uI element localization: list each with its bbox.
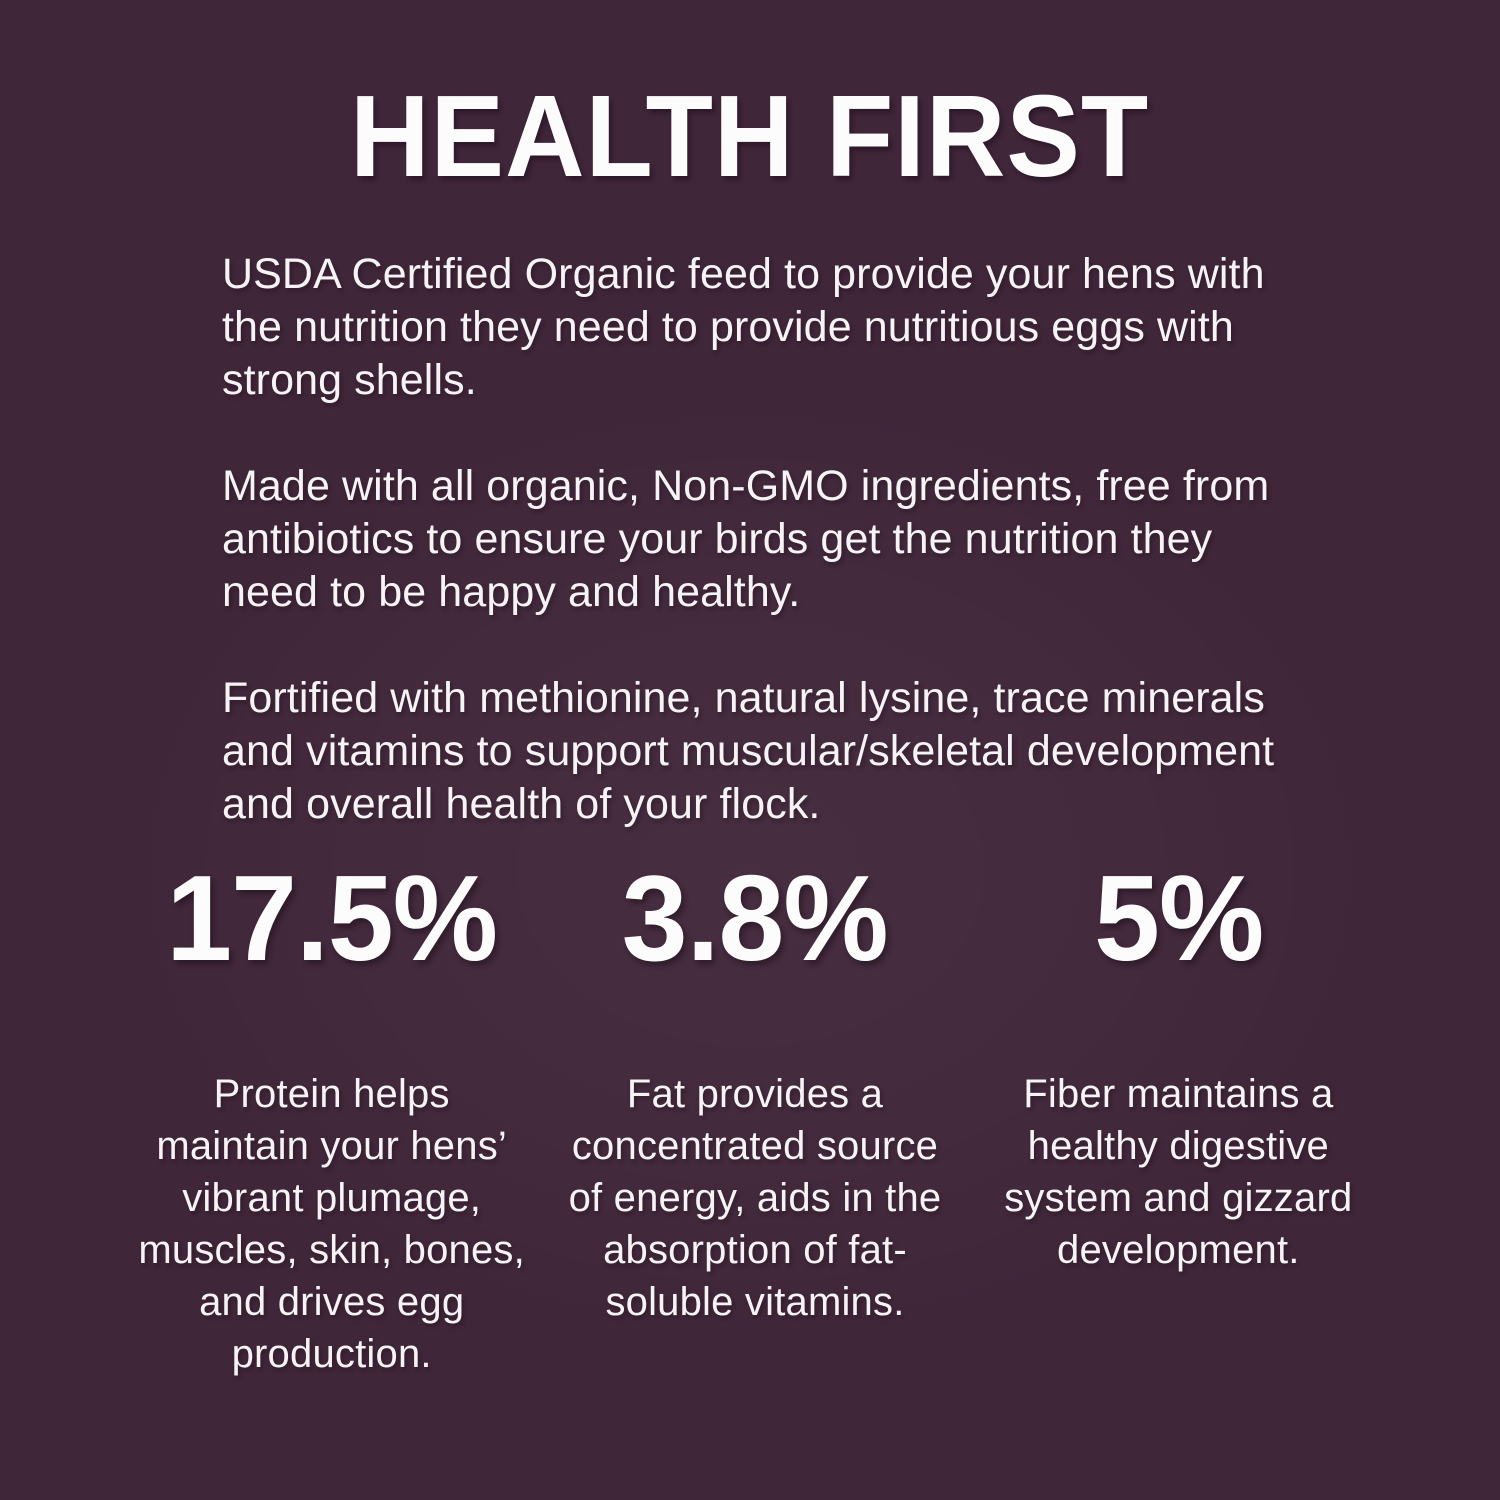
stat-value-fat: 3.8% (550, 862, 961, 974)
stat-description-protein: Protein helps maintain your hens’ vibran… (120, 1068, 543, 1380)
stat-description-text-protein: Protein helps maintain your hens’ vibran… (132, 1068, 531, 1380)
body-paragraph-1: USDA Certified Organic feed to provide y… (222, 248, 1312, 407)
stat-value-protein: 17.5% (126, 862, 537, 974)
stat-description-text-fiber: Fiber maintains a healthy digestive syst… (979, 1068, 1378, 1276)
stat-protein: 17.5% (120, 862, 543, 974)
stat-description-fat: Fat provides a concentrated source of en… (543, 1068, 966, 1328)
body-paragraph-3: Fortified with methionine, natural lysin… (222, 672, 1312, 831)
nutrition-stats-row: 17.5% 3.8% 5% (120, 862, 1390, 974)
stat-value-fiber: 5% (973, 862, 1384, 974)
product-info-panel: HEALTH FIRST USDA Certified Organic feed… (0, 0, 1500, 1500)
nutrition-descriptions-row: Protein helps maintain your hens’ vibran… (120, 1068, 1390, 1380)
body-copy: USDA Certified Organic feed to provide y… (222, 248, 1312, 831)
page-title-container: HEALTH FIRST (0, 78, 1500, 194)
page-title: HEALTH FIRST (350, 78, 1149, 194)
stat-fiber: 5% (967, 862, 1390, 974)
stat-fat: 3.8% (543, 862, 966, 974)
body-paragraph-2: Made with all organic, Non-GMO ingredien… (222, 460, 1312, 619)
stat-description-fiber: Fiber maintains a healthy digestive syst… (967, 1068, 1390, 1276)
stat-description-text-fat: Fat provides a concentrated source of en… (555, 1068, 954, 1328)
